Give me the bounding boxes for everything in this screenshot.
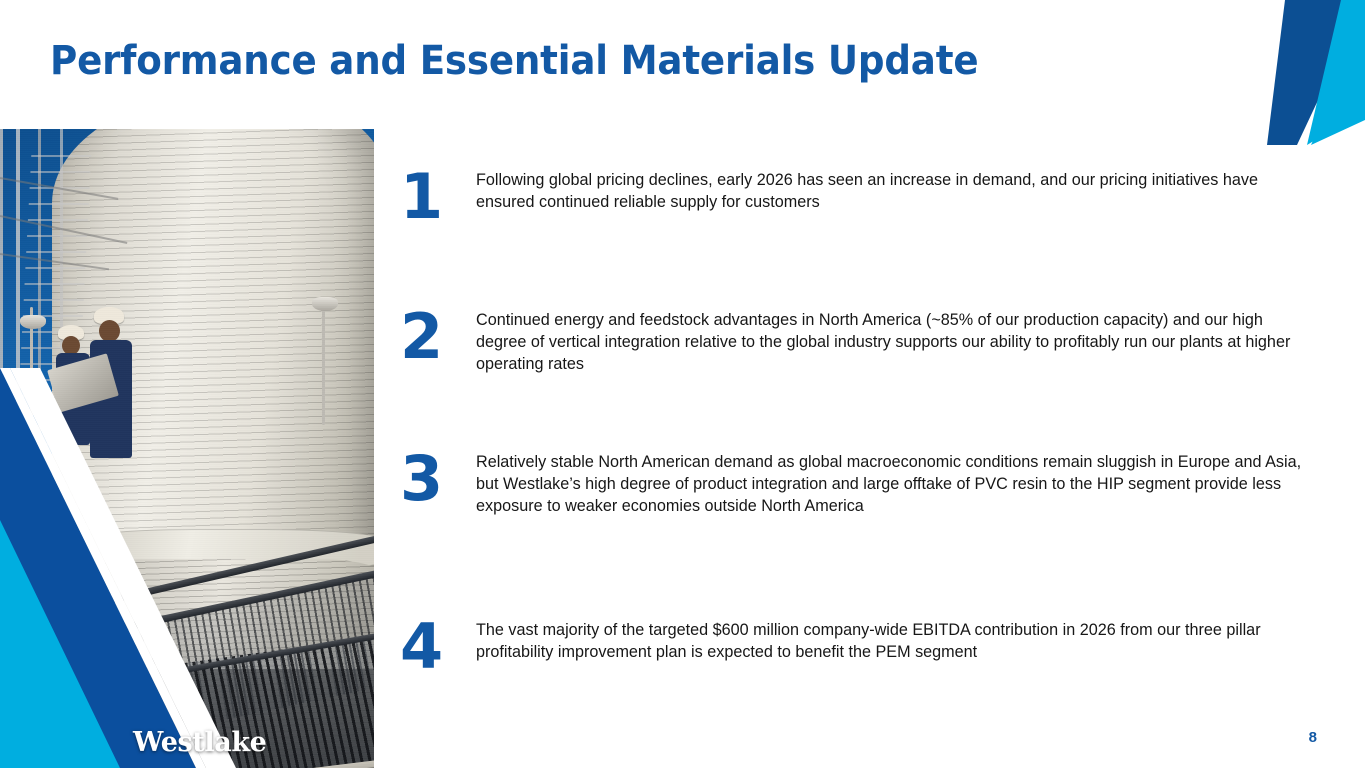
- point-text: Continued energy and feedstock advantage…: [476, 309, 1312, 376]
- page-title: Performance and Essential Materials Upda…: [50, 38, 978, 84]
- industrial-plant-photo: [0, 129, 374, 768]
- worker-head: [99, 320, 120, 342]
- point-number: 2: [400, 309, 476, 361]
- point-number: 4: [400, 619, 476, 671]
- point-text: Following global pricing declines, early…: [476, 169, 1312, 213]
- light-pole: [322, 305, 325, 425]
- light-fixture: [312, 297, 338, 311]
- photo-artwork: [0, 129, 374, 768]
- point-number: 1: [400, 169, 476, 221]
- point-text: The vast majority of the targeted $600 m…: [476, 619, 1312, 663]
- list-item: 1 Following global pricing declines, ear…: [400, 169, 1312, 221]
- key-points-list: 1 Following global pricing declines, ear…: [396, 129, 1326, 768]
- corner-accent-top-right: [1245, 0, 1365, 145]
- corner-accent-top-right-shape: [1245, 0, 1365, 145]
- presentation-slide: Performance and Essential Materials Upda…: [0, 0, 1365, 768]
- westlake-logo: Westlake: [133, 727, 266, 758]
- light-fixture: [20, 315, 46, 329]
- list-item: 2 Continued energy and feedstock advanta…: [400, 309, 1312, 376]
- page-number: 8: [1309, 729, 1317, 746]
- light-pole: [30, 307, 33, 517]
- list-item: 3 Relatively stable North American deman…: [400, 451, 1312, 518]
- point-text: Relatively stable North American demand …: [476, 451, 1312, 518]
- list-item: 4 The vast majority of the targeted $600…: [400, 619, 1312, 671]
- point-number: 3: [400, 451, 476, 503]
